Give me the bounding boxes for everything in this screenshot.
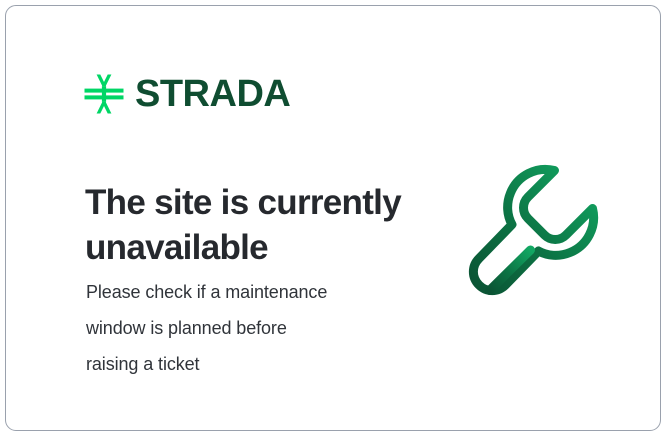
brand-logo: STRADA [84,74,290,114]
strada-asterisk-icon [84,74,124,114]
page-description: Please check if a maintenance window is … [86,274,406,382]
error-page: STRADA The site is currently unavailable… [0,0,666,436]
description-line: window is planned before [86,310,406,346]
description-line: raising a ticket [86,346,406,382]
page-title: The site is currently unavailable [85,181,435,270]
description-line: Please check if a maintenance [86,274,406,310]
wrench-icon [458,156,620,321]
brand-wordmark: STRADA [135,75,290,113]
error-card: STRADA The site is currently unavailable… [5,5,661,431]
